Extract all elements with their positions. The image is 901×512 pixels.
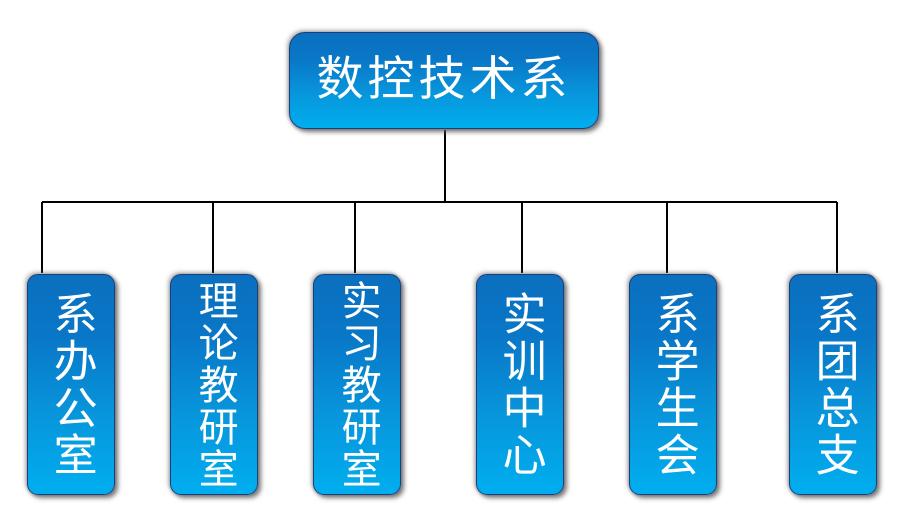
org-node-youth-league-branch-label: 系团总支 [810,291,855,479]
org-node-root-label: 数控技术系 [317,56,572,106]
org-node-department-office-label: 系办公室 [48,291,93,479]
org-node-student-union[interactable]: 系学生会 [629,274,717,495]
org-node-root[interactable]: 数控技术系 [289,32,599,129]
org-chart-canvas: 数控技术系 系办公室 理论教研室 实习教研室 实训中心 系学生会 系团总支 [0,0,901,512]
org-node-department-office[interactable]: 系办公室 [27,274,115,495]
org-node-training-center[interactable]: 实训中心 [476,274,564,495]
org-node-student-union-label: 系学生会 [650,291,695,479]
org-node-theory-teaching-office[interactable]: 理论教研室 [170,274,258,495]
org-node-internship-teaching-office-label: 实习教研室 [336,280,377,490]
org-node-theory-teaching-office-label: 理论教研室 [193,280,234,490]
org-node-internship-teaching-office[interactable]: 实习教研室 [313,274,401,495]
org-node-training-center-label: 实训中心 [497,291,542,479]
org-node-youth-league-branch[interactable]: 系团总支 [789,274,877,495]
